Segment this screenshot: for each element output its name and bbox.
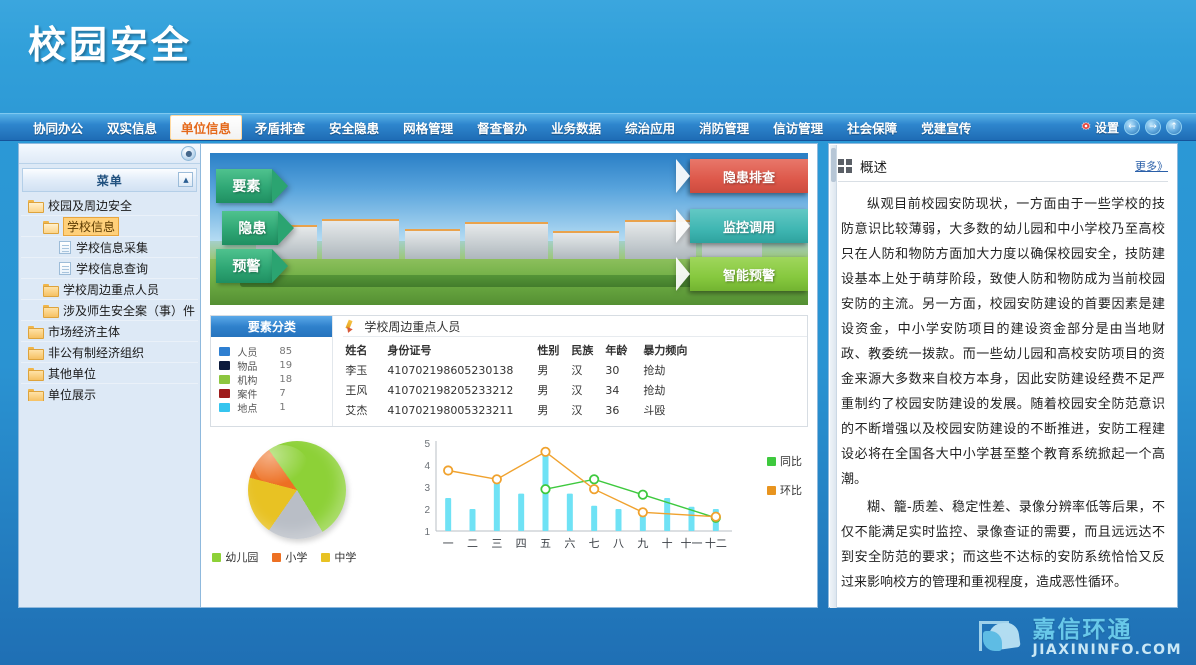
table-row[interactable]: 艾杰410702198005323211男汉36斗殴	[343, 400, 807, 420]
arrow-tip-icon	[278, 211, 294, 245]
sidebar-tree-item-label: 校园及周边安全	[48, 197, 132, 214]
legend-chip-icon	[272, 553, 281, 562]
folder-icon	[28, 346, 43, 358]
banner-arrow-yinhuan[interactable]: 隐患	[222, 211, 294, 245]
arrow-right-icon[interactable]: →	[1145, 119, 1161, 135]
table-cell-id: 410702198605230138	[385, 360, 535, 380]
table-cell-name: 王风	[343, 380, 385, 400]
pie-chart-graphic	[248, 441, 346, 539]
file-icon	[59, 262, 71, 275]
banner-arrow-label: 要素	[216, 169, 272, 203]
arrow-up-icon[interactable]: ↑	[1166, 119, 1182, 135]
svg-text:4: 4	[425, 461, 431, 472]
banner-arrow-yaosu[interactable]: 要素	[216, 169, 288, 203]
banner-arrow-monitor-call[interactable]: 监控调用	[690, 209, 808, 243]
pencil-icon	[343, 319, 357, 333]
category-panel: 要素分类 人员85物品19机构18案件7地点1	[211, 316, 333, 426]
legend-chip-icon	[767, 457, 776, 466]
category-label: 案件	[237, 386, 279, 401]
table-cell-sex: 男	[535, 400, 569, 420]
color-swatch-icon	[219, 347, 230, 356]
category-label: 地点	[237, 400, 279, 415]
category-row[interactable]: 地点1	[219, 400, 332, 414]
bar-legend-item[interactable]: 环比	[767, 482, 802, 498]
legend-chip-icon	[321, 553, 330, 562]
svg-text:3: 3	[425, 483, 431, 494]
nav-item-1[interactable]: 双实信息	[96, 115, 168, 140]
nav-item-11[interactable]: 社会保障	[836, 115, 908, 140]
arrow-left-icon[interactable]: ←	[1124, 119, 1140, 135]
overview-body: 纵观目前校园安防现状，一方面由于一些学校的技防意识比较薄弱，大多数的幼儿园和中小…	[829, 182, 1177, 595]
banner-arrow-label: 预警	[216, 249, 272, 283]
svg-text:八: 八	[613, 537, 624, 550]
pie-legend-label: 小学	[285, 549, 307, 565]
table-cell-ethnic: 汉	[569, 360, 603, 380]
category-row[interactable]: 机构18	[219, 372, 332, 386]
category-label: 人员	[237, 344, 279, 359]
content-area: ● 菜单 ▲ 校园及周边安全学校信息学校信息采集学校信息查询学校周边重点人员涉及…	[18, 143, 1178, 608]
sidebar-tree-item-label: 学校信息	[63, 217, 119, 236]
svg-text:二: 二	[467, 537, 478, 550]
sidebar: ● 菜单 ▲ 校园及周边安全学校信息学校信息采集学校信息查询学校周边重点人员涉及…	[18, 143, 201, 608]
bar-chart-legend: 同比环比	[767, 453, 802, 511]
banner-arrow-smart-alert[interactable]: 智能预警	[690, 257, 808, 291]
pie-legend-item[interactable]: 小学	[272, 549, 307, 565]
table-cell-age: 30	[603, 360, 641, 380]
pie-legend-item[interactable]: 中学	[321, 549, 356, 565]
table-cell-ethnic: 汉	[569, 380, 603, 400]
sidebar-tree-item-3[interactable]: 学校信息查询	[21, 258, 198, 279]
watermark-cn: 嘉信环通	[1033, 618, 1182, 642]
sidebar-menu-title: 菜单	[97, 172, 123, 189]
sidebar-tree-item-label: 单位展示	[48, 386, 96, 402]
banner-arrow-label: 智能预警	[690, 257, 808, 291]
nav-right-controls: 设置 ← → ↑	[1080, 119, 1182, 136]
bar-chart-graphic: 12345一二三四五六七八九十十一十二	[410, 435, 740, 553]
svg-text:四: 四	[516, 537, 527, 550]
folder-icon	[28, 367, 43, 379]
pie-legend-label: 幼儿园	[225, 549, 258, 565]
pie-legend-item[interactable]: 幼儿园	[212, 549, 258, 565]
sidebar-tree: 校园及周边安全学校信息学校信息采集学校信息查询学校周边重点人员涉及师生安全案（事…	[21, 195, 198, 401]
category-row[interactable]: 人员85	[219, 344, 332, 358]
pie-chart: 幼儿园小学中学	[210, 435, 410, 565]
folder-icon	[28, 325, 43, 337]
folder-open-icon	[43, 220, 58, 232]
more-link[interactable]: 更多》	[1135, 158, 1168, 174]
file-icon	[59, 241, 71, 254]
overview-paragraph: 纵观目前校园安防现状，一方面由于一些学校的技防意识比较薄弱，大多数的幼儿园和中小…	[841, 192, 1165, 492]
table-col-header: 性别	[535, 340, 569, 360]
folder-icon	[28, 388, 43, 400]
table-col-header: 年龄	[603, 340, 641, 360]
table-header-row: 姓名身份证号性别民族年龄暴力频向	[343, 340, 807, 360]
sidebar-tree-item-2[interactable]: 学校信息采集	[21, 237, 198, 258]
sidebar-tree-item-7[interactable]: 非公有制经济组织	[21, 342, 198, 363]
table-row[interactable]: 李玉410702198605230138男汉30抢劫	[343, 360, 807, 380]
people-table-panel: 学校周边重点人员 姓名身份证号性别民族年龄暴力频向 李玉410702198605…	[333, 316, 807, 426]
table-cell-name: 李玉	[343, 360, 385, 380]
table-cell-tendency: 斗殴	[641, 400, 807, 420]
main-panel: 要素 隐患 预警 隐患排查 监控调用 智能预警	[201, 143, 818, 608]
sidebar-tree-item-5[interactable]: 涉及师生安全案（事）件	[21, 300, 198, 321]
color-swatch-icon	[219, 361, 230, 370]
table-row[interactable]: 王风410702198205233212男汉34抢劫	[343, 380, 807, 400]
svg-text:十二: 十二	[705, 536, 727, 550]
sidebar-tree-item-label: 其他单位	[48, 365, 96, 382]
pie-chart-legend: 幼儿园小学中学	[212, 549, 356, 565]
overview-scrollbar[interactable]	[830, 145, 837, 608]
sidebar-tree-item-4[interactable]: 学校周边重点人员	[21, 279, 198, 300]
svg-text:九: 九	[638, 537, 649, 550]
category-row[interactable]: 案件7	[219, 386, 332, 400]
main-navigation-bar: 协同办公双实信息单位信息矛盾排查安全隐患网格管理督查督办业务数据综治应用消防管理…	[0, 113, 1196, 141]
svg-text:十一: 十一	[681, 536, 703, 550]
overview-panel: 概述 更多》 纵观目前校园安防现状，一方面由于一些学校的技防意识比较薄弱，大多数…	[828, 143, 1178, 608]
category-label: 机构	[237, 372, 279, 387]
bar-legend-label: 环比	[780, 482, 802, 498]
category-list: 人员85物品19机构18案件7地点1	[211, 337, 332, 414]
color-swatch-icon	[219, 375, 230, 384]
table-cell-name: 艾杰	[343, 400, 385, 420]
charts-row: 幼儿园小学中学 12345一二三四五六七八九十十一十二 同比环比	[210, 435, 808, 565]
banner-arrow-label: 隐患排查	[690, 159, 808, 193]
svg-text:2: 2	[425, 505, 431, 516]
arrow-tip-icon	[272, 169, 288, 203]
nav-item-12[interactable]: 党建宣传	[910, 115, 982, 140]
nav-item-list: 协同办公双实信息单位信息矛盾排查安全隐患网格管理督查督办业务数据综治应用消防管理…	[22, 115, 984, 140]
sidebar-filler	[19, 401, 200, 607]
table-cell-sex: 男	[535, 380, 569, 400]
overview-paragraph: 糊、籠-质差、稳定性差、录像分辨率低等后果，不仅不能满足实时监控、录像查证的需要…	[841, 495, 1165, 595]
nav-item-2[interactable]: 单位信息	[170, 115, 242, 140]
sidebar-tree-item-label: 非公有制经济组织	[48, 344, 144, 361]
sidebar-tree-item-label: 学校信息查询	[76, 260, 148, 277]
table-cell-age: 34	[603, 380, 641, 400]
sidebar-tree-item-label: 涉及师生安全案（事）件	[63, 302, 195, 319]
nav-item-9[interactable]: 消防管理	[688, 115, 760, 140]
category-count: 19	[279, 360, 292, 371]
bar-legend-label: 同比	[780, 453, 802, 469]
svg-text:5: 5	[425, 439, 431, 450]
company-logo-icon	[979, 617, 1025, 659]
table-cell-id: 410702198005323211	[385, 400, 535, 420]
color-swatch-icon	[219, 403, 230, 412]
bar-legend-item[interactable]: 同比	[767, 453, 802, 469]
svg-text:一: 一	[443, 537, 454, 550]
nav-item-6[interactable]: 督查督办	[466, 115, 538, 140]
arrow-tip-icon	[272, 249, 288, 283]
nav-item-10[interactable]: 信访管理	[762, 115, 834, 140]
sidebar-tree-item-9[interactable]: 单位展示	[21, 384, 198, 401]
chevron-up-icon[interactable]: ▲	[178, 172, 193, 187]
category-label: 物品	[237, 358, 279, 373]
table-cell-sex: 男	[535, 360, 569, 380]
category-header: 要素分类	[211, 316, 332, 337]
sidebar-tree-item-6[interactable]: 市场经济主体	[21, 321, 198, 342]
table-col-header: 暴力频向	[641, 340, 807, 360]
sidebar-tree-item-8[interactable]: 其他单位	[21, 363, 198, 384]
pie-legend-label: 中学	[334, 549, 356, 565]
people-table-title: 学校周边重点人员	[343, 316, 807, 337]
svg-text:五: 五	[540, 537, 551, 550]
svg-text:三: 三	[492, 537, 503, 550]
category-count: 85	[279, 346, 292, 357]
category-count: 7	[279, 388, 285, 399]
hero-banner: 要素 隐患 预警 隐患排查 监控调用 智能预警	[210, 153, 808, 305]
banner-arrow-label: 监控调用	[690, 209, 808, 243]
svg-text:十: 十	[662, 536, 673, 550]
table-col-header: 民族	[569, 340, 603, 360]
sidebar-tree-item-label: 学校信息采集	[76, 239, 148, 256]
folder-icon	[43, 304, 58, 316]
watermark-text: 嘉信环通 JIAXININFO.COM	[1033, 618, 1182, 658]
nav-item-0[interactable]: 协同办公	[22, 115, 94, 140]
sidebar-tree-item-label: 学校周边重点人员	[63, 281, 159, 298]
svg-text:六: 六	[565, 537, 576, 550]
nav-item-7[interactable]: 业务数据	[540, 115, 612, 140]
folder-open-icon	[28, 199, 43, 211]
legend-chip-icon	[767, 486, 776, 495]
table-col-header: 身份证号	[385, 340, 535, 360]
sidebar-topbar: ●	[19, 144, 200, 164]
people-table-title-text: 学校周边重点人员	[364, 318, 460, 335]
category-count: 1	[279, 402, 285, 413]
table-col-header: 姓名	[343, 340, 385, 360]
bar-chart: 12345一二三四五六七八九十十一十二 同比环比	[410, 435, 808, 565]
table-cell-ethnic: 汉	[569, 400, 603, 420]
nav-item-5[interactable]: 网格管理	[392, 115, 464, 140]
svg-text:1: 1	[425, 527, 431, 538]
scrollbar-thumb[interactable]	[831, 148, 836, 182]
nav-item-4[interactable]: 安全隐患	[318, 115, 390, 140]
sidebar-tree-item-label: 市场经济主体	[48, 323, 120, 340]
banner-arrow-yujing[interactable]: 预警	[216, 249, 288, 283]
mid-section: 要素分类 人员85物品19机构18案件7地点1 学校周边重点人员 姓名身份证号性…	[210, 315, 808, 427]
table-cell-id: 410702198205233212	[385, 380, 535, 400]
grid-icon	[838, 159, 852, 173]
svg-text:七: 七	[589, 537, 600, 550]
page-header: 校园安全	[0, 0, 1196, 113]
settings-button[interactable]: 设置	[1080, 119, 1119, 136]
table-cell-tendency: 抢劫	[641, 380, 807, 400]
overview-header: 概述 更多》	[838, 151, 1168, 182]
legend-chip-icon	[212, 553, 221, 562]
category-row[interactable]: 物品19	[219, 358, 332, 372]
table-cell-tendency: 抢劫	[641, 360, 807, 380]
watermark: 嘉信环通 JIAXININFO.COM	[979, 617, 1182, 659]
page-title: 校园安全	[28, 14, 192, 69]
color-swatch-icon	[219, 389, 230, 398]
sidebar-menu-header: 菜单 ▲	[22, 168, 197, 192]
people-table: 姓名身份证号性别民族年龄暴力频向 李玉410702198605230138男汉3…	[343, 340, 807, 420]
collapse-icon[interactable]: ●	[181, 146, 196, 161]
sidebar-tree-item-0[interactable]: 校园及周边安全	[21, 195, 198, 216]
banner-arrow-label: 隐患	[222, 211, 278, 245]
table-cell-age: 36	[603, 400, 641, 420]
gear-icon	[1080, 121, 1092, 133]
folder-icon	[43, 283, 58, 295]
overview-title: 概述	[860, 156, 887, 176]
sidebar-tree-item-1[interactable]: 学校信息	[21, 216, 198, 237]
category-count: 18	[279, 374, 292, 385]
settings-label: 设置	[1095, 119, 1119, 136]
banner-arrow-hazard-check[interactable]: 隐患排查	[690, 159, 808, 193]
nav-item-8[interactable]: 综治应用	[614, 115, 686, 140]
watermark-en: JIAXININFO.COM	[1033, 642, 1182, 658]
nav-item-3[interactable]: 矛盾排查	[244, 115, 316, 140]
